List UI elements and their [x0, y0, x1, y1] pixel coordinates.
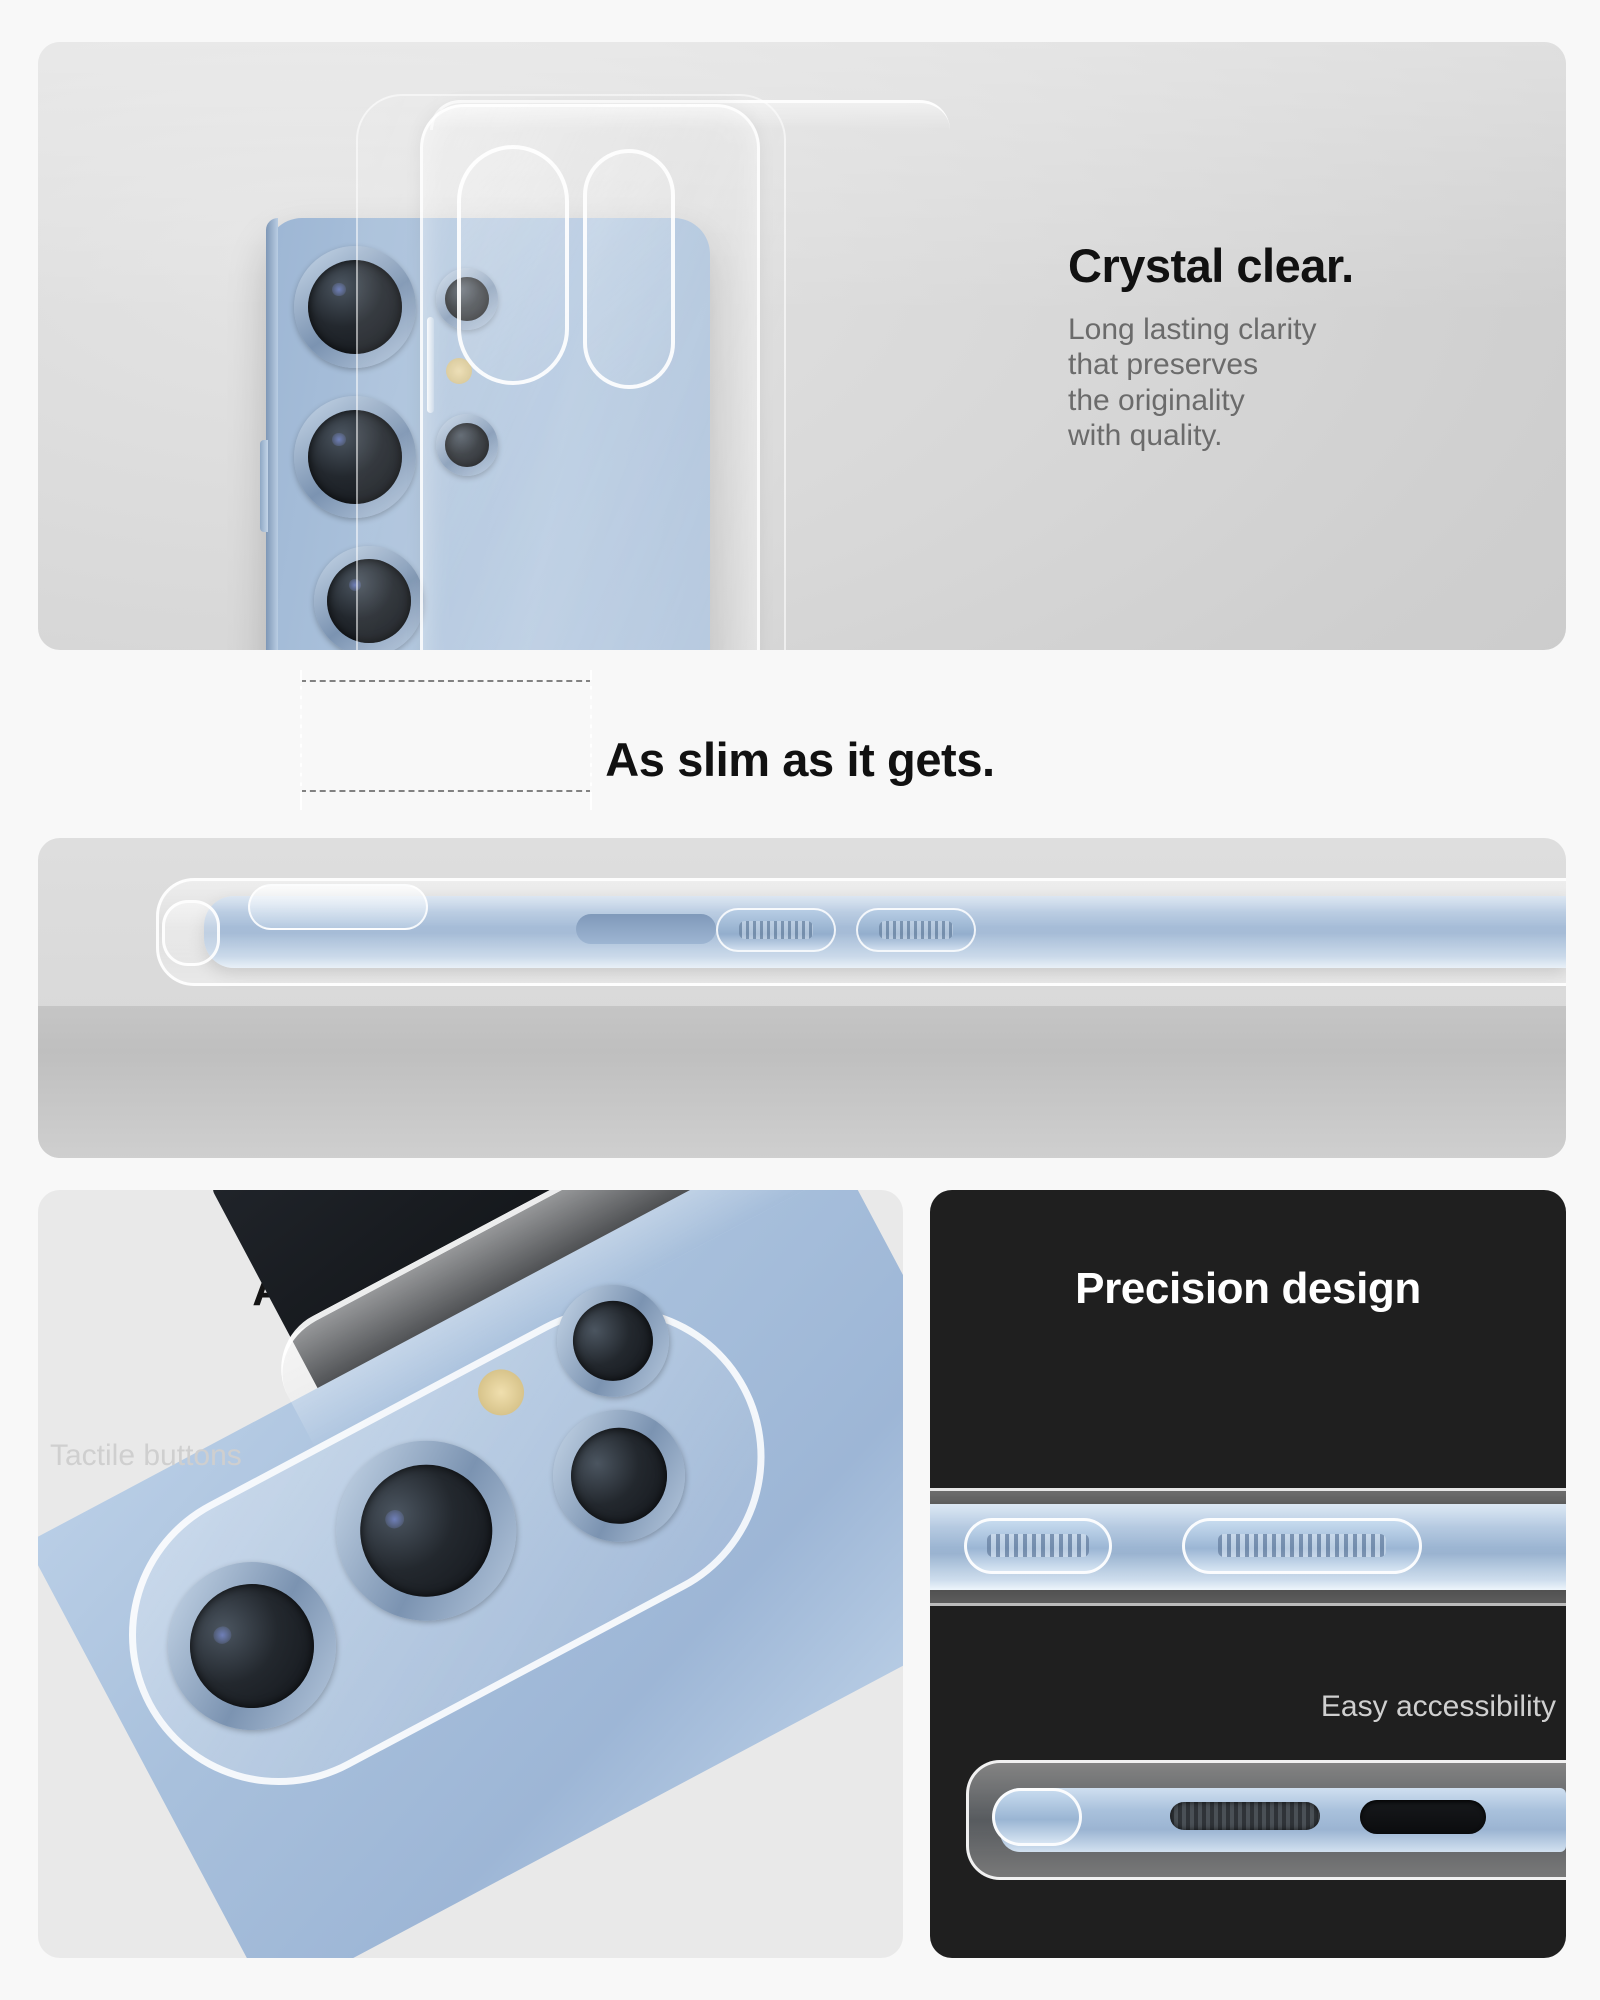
thickness-measure-overlay: [38, 660, 1566, 820]
tactile-buttons-label: Tactile buttons: [50, 1439, 242, 1473]
closeup-camera-lens-2: [337, 1441, 516, 1620]
closeup-camera-lens-1: [168, 1562, 336, 1730]
case-corner-detail: [162, 900, 220, 966]
closeup-camera-ring-1: [138, 1532, 365, 1759]
closeup-camera-lens-4: [559, 1287, 667, 1395]
surface-shadow: [38, 1006, 1566, 1158]
phone-side-button: [260, 440, 268, 532]
subtitle-line-1: Long lasting clarity: [1068, 312, 1498, 347]
tactile-button-volume: [1182, 1518, 1422, 1574]
case-covered-button-1: [716, 908, 836, 952]
tactile-button-power: [964, 1518, 1112, 1574]
crystal-clear-text-block: Crystal clear. Long lasting clarity that…: [1068, 238, 1498, 454]
measure-line-left: [300, 670, 302, 810]
crystal-clear-title: Crystal clear.: [1068, 238, 1498, 293]
closeup-camera-ring-3: [530, 1387, 709, 1566]
case-button-cover: [427, 317, 434, 413]
crystal-clear-subtitle: Long lasting clarity that preserves the …: [1068, 312, 1498, 454]
easy-accessibility-label: Easy accessibility: [1321, 1690, 1556, 1724]
subtitle-line-3: the originality: [1068, 383, 1498, 418]
speaker-grille-cutout: [1170, 1802, 1320, 1830]
closeup-camera-ring-2: [305, 1409, 548, 1652]
usb-c-port-cutout: [1360, 1800, 1486, 1834]
subtitle-line-4: with quality.: [1068, 418, 1498, 453]
closeup-lens-flare-1: [211, 1623, 234, 1646]
product-feature-page: Crystal clear. Long lasting clarity that…: [0, 0, 1600, 2000]
closeup-lens-flare-2: [382, 1507, 407, 1532]
subtitle-line-2: that preserves: [1068, 347, 1498, 382]
lens-flare-2: [332, 433, 345, 446]
case-bottom-button-cover: [992, 1788, 1082, 1846]
phone-left-edge: [266, 218, 278, 650]
precision-design-title: Precision design: [930, 1264, 1566, 1314]
additional-protection-panel: Additional Protection: [38, 1190, 903, 1958]
tactile-buttons-image: [930, 1482, 1566, 1614]
measure-line-right: [590, 670, 592, 810]
easy-accessibility-image: [930, 1730, 1566, 1930]
lens-flare-1: [332, 283, 345, 296]
closeup-camera-lens-3: [554, 1411, 684, 1541]
phone-side-profile-image: [156, 860, 1566, 1000]
case-camera-bump-profile: [248, 884, 428, 930]
closeup-led-flash: [470, 1361, 532, 1423]
slim-panel: [38, 838, 1566, 1158]
phone-volume-rocker: [576, 914, 716, 944]
crystal-clear-panel: Crystal clear. Long lasting clarity that…: [38, 42, 1566, 650]
thickness-bracket: [300, 670, 592, 810]
dashed-rectangle: [300, 680, 592, 792]
clear-case-body: [420, 104, 760, 650]
case-camera-cutout-right: [583, 149, 675, 389]
case-camera-cutout-left: [457, 145, 569, 385]
case-covered-button-2: [856, 908, 976, 952]
